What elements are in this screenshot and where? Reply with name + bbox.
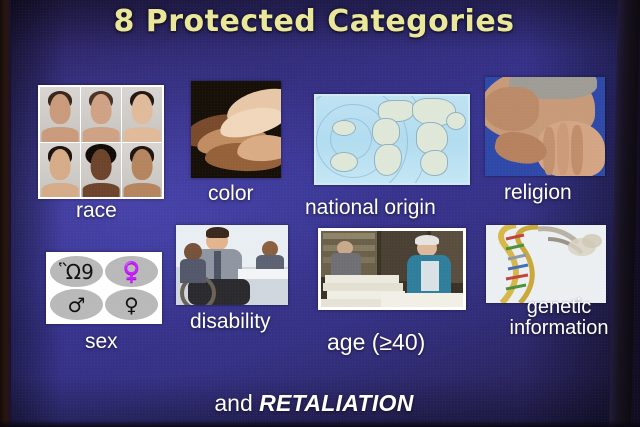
dna-helix-icon [486,225,606,303]
screen-edge-left [0,0,11,427]
portrait-face [40,87,80,142]
genetic-label-line-2: information [510,317,609,339]
dna-double-helix-graphic [486,225,606,303]
footer-lead-text: and [214,390,259,416]
footer-emphasis-text: RETALIATION [259,390,414,416]
portrait-face [81,87,121,142]
portrait-face [122,87,162,142]
page-title: 8 Protected Categories [0,4,628,39]
man-praying-photo [485,77,605,176]
category-label-religion: religion [504,181,572,204]
portrait-face [40,143,80,198]
gender-symbols-icon-grid: Ὣ9 ♀️ ♂ ♀ [46,252,162,324]
male-figure-icon: Ὣ9 [50,256,103,287]
portrait-face [81,143,121,198]
presentation-slide: 8 Protected Categories race color [0,0,640,427]
category-label-age: age (≥40) [327,331,425,354]
female-figure-icon: ♀️ [105,256,158,287]
genetic-label-line-1: genetic [527,296,592,318]
category-label-genetic-information: genetic information [504,297,614,339]
screen-edge-bottom [0,420,640,427]
footer-text: and RETALIATION [0,390,628,417]
six-portrait-faces-photo [38,85,164,199]
stacked-hands-skin-tones-photo [191,81,281,178]
category-label-disability: disability [190,310,271,333]
man-in-wheelchair-meeting-photo [176,225,288,305]
category-label-national-origin: national origin [305,196,436,219]
category-label-race: race [76,199,117,222]
mars-symbol-icon: ♂ [50,289,103,320]
elderly-woman-at-desk-photo [318,228,466,310]
venus-symbol-icon: ♀ [105,289,158,320]
world-map-graphic [314,94,470,185]
category-label-sex: sex [85,330,118,353]
portrait-face [122,143,162,198]
category-label-color: color [208,182,254,205]
